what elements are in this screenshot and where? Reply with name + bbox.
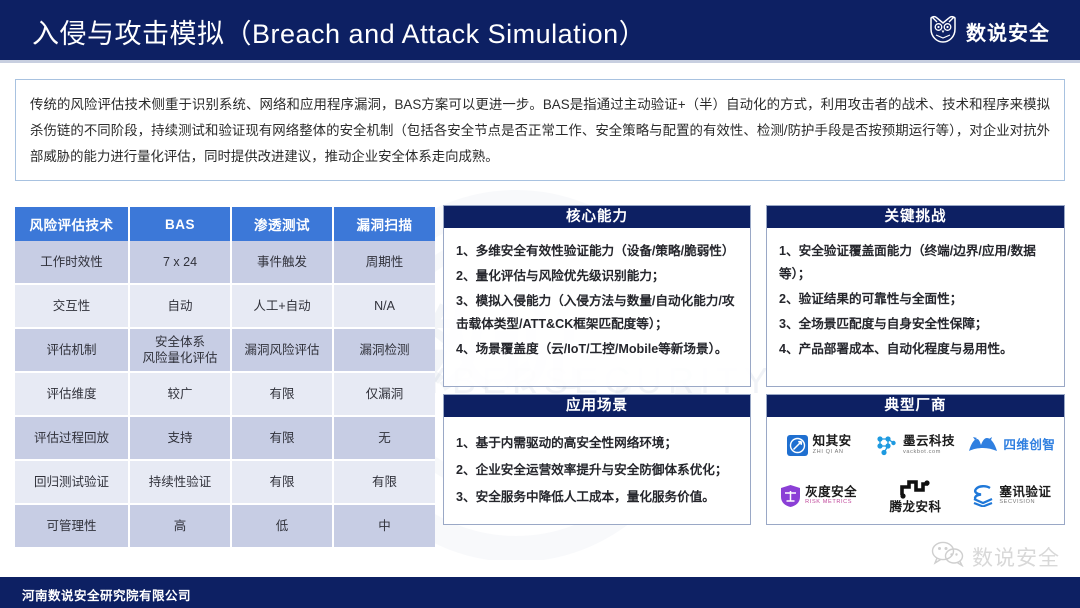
vendor-name-en: RISK METRICS <box>805 500 857 506</box>
vendor-name-en: SECVISION <box>999 500 1051 506</box>
table-cell: 漏洞检测 <box>333 328 435 372</box>
description-text: 传统的风险评估技术侧重于识别系统、网络和应用程序漏洞，BAS方案可以更进一步。B… <box>30 92 1050 170</box>
table-cell: 安全体系风险量化评估 <box>129 328 231 372</box>
table-cell: N/A <box>333 284 435 328</box>
vendor-logo-grid: 知其安ZHI QI AN墨云科技vackbot.com四维创智灰度安全RISK … <box>767 417 1064 524</box>
key-challenge-item: 3、全场景匹配度与自身安全性保障； <box>779 313 1054 336</box>
table-cell: 周期性 <box>333 241 435 284</box>
vendor-name-cn: 墨云科技 <box>903 435 955 448</box>
table-row: 评估维度较广有限仅漏洞 <box>15 372 435 416</box>
vendor-item: 知其安ZHI QI AN <box>771 420 867 471</box>
wave-icon <box>900 479 930 499</box>
table-row: 交互性自动人工+自动N/A <box>15 284 435 328</box>
table-header-row: 风险评估技术 BAS 渗透测试 漏洞扫描 <box>15 207 435 241</box>
layers-icon <box>972 485 994 507</box>
page-header: 入侵与攻击模拟（Breach and Attack Simulation） 数说… <box>0 0 1080 60</box>
card-application-scenarios: 应用场景 1、基于内需驱动的高安全性网络环境；2、企业安全运营效率提升与安全防御… <box>443 394 751 525</box>
vendor-item: 腾龙安科 <box>867 471 963 522</box>
table-cell: 漏洞风险评估 <box>231 328 333 372</box>
table-cell: 有限 <box>231 416 333 460</box>
table-col-header-3: 漏洞扫描 <box>333 207 435 241</box>
table-cell: 有限 <box>333 460 435 504</box>
header-accent-line <box>0 60 1080 63</box>
vendor-name-block: 四维创智 <box>1003 439 1055 452</box>
page-footer: 河南数说安全研究院有限公司 <box>0 577 1080 608</box>
vendor-name-cn: 塞讯验证 <box>999 486 1051 499</box>
table-cell: 回归测试验证 <box>15 460 129 504</box>
table-cell: 有限 <box>231 460 333 504</box>
table-row: 可管理性高低中 <box>15 504 435 548</box>
key-challenge-item: 1、安全验证覆盖面能力（终端/边界/应用/数据等）； <box>779 240 1054 286</box>
wolf-icon <box>968 437 998 453</box>
footer-wechat-brand: 数说安全 <box>931 541 1060 572</box>
table-cell: 低 <box>231 504 333 548</box>
table-cell: 工作时效性 <box>15 241 129 284</box>
key-challenge-item: 4、产品部署成本、自动化程度与易用性。 <box>779 338 1054 361</box>
table-col-header-2: 渗透测试 <box>231 207 333 241</box>
comparison-table-wrapper: 风险评估技术 BAS 渗透测试 漏洞扫描 工作时效性7 x 24事件触发周期性交… <box>15 207 435 549</box>
footer-wechat-label: 数说安全 <box>972 542 1060 572</box>
card-key-challenges: 关键挑战 1、安全验证覆盖面能力（终端/边界/应用/数据等）；2、验证结果的可靠… <box>766 205 1065 387</box>
table-row: 评估机制安全体系风险量化评估漏洞风险评估漏洞检测 <box>15 328 435 372</box>
footer-company-name: 河南数说安全研究院有限公司 <box>22 585 191 604</box>
key-challenge-item: 2、验证结果的可靠性与全面性； <box>779 288 1054 311</box>
table-row: 回归测试验证持续性验证有限有限 <box>15 460 435 504</box>
comparison-table: 风险评估技术 BAS 渗透测试 漏洞扫描 工作时效性7 x 24事件触发周期性交… <box>15 207 435 549</box>
purple-shield-icon <box>781 485 800 507</box>
table-row: 工作时效性7 x 24事件触发周期性 <box>15 241 435 284</box>
vendor-name-block: 灰度安全RISK METRICS <box>805 486 857 506</box>
table-cell: 有限 <box>231 372 333 416</box>
table-cell: 自动 <box>129 284 231 328</box>
network-nodes-icon <box>876 435 898 456</box>
table-cell: 持续性验证 <box>129 460 231 504</box>
vendor-name-block: 塞讯验证SECVISION <box>999 486 1051 506</box>
vendor-name-cn: 知其安 <box>813 435 852 448</box>
table-cell: 评估过程回放 <box>15 416 129 460</box>
vendor-name-block: 知其安ZHI QI AN <box>813 435 852 455</box>
card-scenario-title: 应用场景 <box>444 395 750 417</box>
table-cell: 评估机制 <box>15 328 129 372</box>
card-challenge-body: 1、安全验证覆盖面能力（终端/边界/应用/数据等）；2、验证结果的可靠性与全面性… <box>767 228 1064 371</box>
card-core-title: 核心能力 <box>444 206 750 228</box>
shield-arrow-icon <box>787 435 808 456</box>
card-core-capabilities: 核心能力 1、多维安全有效性验证能力（设备/策略/脆弱性）2、量化评估与风险优先… <box>443 205 751 387</box>
table-cell: 仅漏洞 <box>333 372 435 416</box>
wechat-icon <box>931 541 965 572</box>
core-capability-item: 4、场景覆盖度（云/IoT/工控/Mobile等新场景）。 <box>456 338 740 361</box>
table-cell: 评估维度 <box>15 372 129 416</box>
comparison-table-body: 工作时效性7 x 24事件触发周期性交互性自动人工+自动N/A评估机制安全体系风… <box>15 241 435 548</box>
page-title: 入侵与攻击模拟（Breach and Attack Simulation） <box>32 12 646 51</box>
owl-icon <box>929 14 957 49</box>
core-capability-item: 1、多维安全有效性验证能力（设备/策略/脆弱性） <box>456 240 740 263</box>
card-challenge-title: 关键挑战 <box>767 206 1064 228</box>
vendor-name-block: 腾龙安科 <box>889 501 941 514</box>
table-col-header-1: BAS <box>129 207 231 241</box>
core-capability-item: 3、模拟入侵能力（入侵方法与数量/自动化能力/攻击载体类型/ATT&CK框架匹配… <box>456 290 740 336</box>
table-cell: 可管理性 <box>15 504 129 548</box>
vendor-name-en: vackbot.com <box>903 450 955 456</box>
card-vendors-title: 典型厂商 <box>767 395 1064 417</box>
table-cell: 人工+自动 <box>231 284 333 328</box>
application-scenario-item: 2、企业安全运营效率提升与安全防御体系优化； <box>456 458 740 483</box>
vendor-name-cn: 腾龙安科 <box>889 501 941 514</box>
vendor-name-cn: 灰度安全 <box>805 486 857 499</box>
brand-name: 数说安全 <box>966 17 1050 46</box>
table-cell: 高 <box>129 504 231 548</box>
core-capability-item: 2、量化评估与风险优先级识别能力； <box>456 265 740 288</box>
vendor-item: 塞讯验证SECVISION <box>964 471 1060 522</box>
card-core-body: 1、多维安全有效性验证能力（设备/策略/脆弱性）2、量化评估与风险优先级识别能力… <box>444 228 750 371</box>
table-cell: 中 <box>333 504 435 548</box>
table-cell: 事件触发 <box>231 241 333 284</box>
vendor-item: 灰度安全RISK METRICS <box>771 471 867 522</box>
table-col-header-0: 风险评估技术 <box>15 207 129 241</box>
vendor-item: 墨云科技vackbot.com <box>867 420 963 471</box>
table-cell: 交互性 <box>15 284 129 328</box>
vendor-name-block: 墨云科技vackbot.com <box>903 435 955 455</box>
description-box: 传统的风险评估技术侧重于识别系统、网络和应用程序漏洞，BAS方案可以更进一步。B… <box>15 79 1065 181</box>
application-scenario-item: 1、基于内需驱动的高安全性网络环境； <box>456 431 740 456</box>
card-typical-vendors: 典型厂商 知其安ZHI QI AN墨云科技vackbot.com四维创智灰度安全… <box>766 394 1065 525</box>
vendor-item: 四维创智 <box>964 420 1060 471</box>
application-scenario-item: 3、安全服务中降低人工成本，量化服务价值。 <box>456 485 740 510</box>
table-cell: 7 x 24 <box>129 241 231 284</box>
brand-mark: 数说安全 <box>929 14 1050 49</box>
card-scenario-body: 1、基于内需驱动的高安全性网络环境；2、企业安全运营效率提升与安全防御体系优化；… <box>444 417 750 520</box>
vendor-name-en: ZHI QI AN <box>813 450 852 456</box>
table-cell: 无 <box>333 416 435 460</box>
table-row: 评估过程回放支持有限无 <box>15 416 435 460</box>
vendor-name-cn: 四维创智 <box>1003 439 1055 452</box>
table-cell: 较广 <box>129 372 231 416</box>
table-cell: 支持 <box>129 416 231 460</box>
